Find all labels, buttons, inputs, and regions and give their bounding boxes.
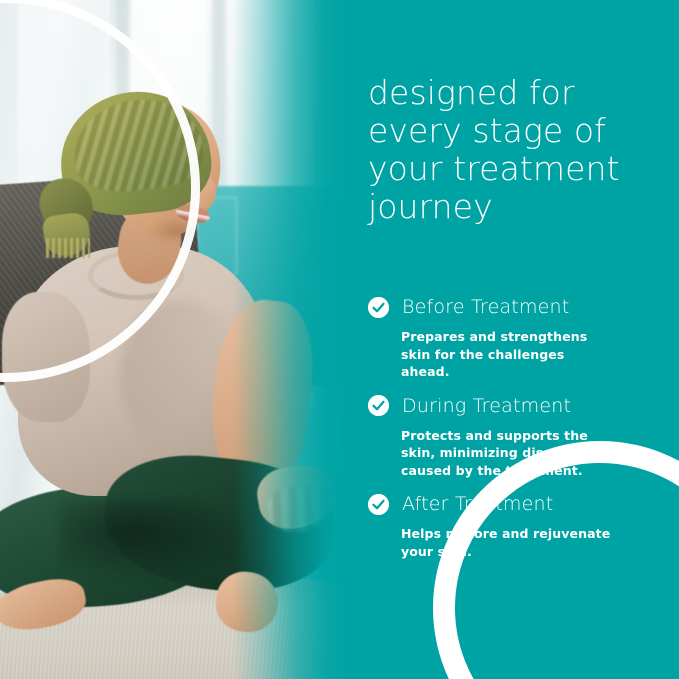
- list-item: After Treatment Helps restore and rejuve…: [368, 493, 668, 560]
- benefit-title: Before Treatment: [402, 296, 569, 318]
- photo-edge-fade: [233, 0, 345, 679]
- leg-shading: [60, 500, 240, 580]
- benefit-heading-row: During Treatment: [368, 395, 668, 417]
- list-item: During Treatment Protects and supports t…: [368, 395, 668, 480]
- check-circle-icon: [368, 494, 389, 515]
- headscarf-fringe: [46, 238, 90, 258]
- benefit-heading-row: After Treatment: [368, 493, 668, 515]
- benefit-title: After Treatment: [402, 493, 553, 515]
- photo-scene: [0, 0, 345, 679]
- sleeve-left: [2, 292, 90, 422]
- chin-shadow: [150, 218, 202, 244]
- check-circle-icon: [368, 395, 389, 416]
- benefit-title: During Treatment: [402, 395, 571, 417]
- page-title: designed for every stage of your treatme…: [368, 74, 660, 226]
- list-item: Before Treatment Prepares and strengthen…: [368, 296, 668, 381]
- content-panel: designed for every stage of your treatme…: [368, 0, 668, 679]
- benefits-list: Before Treatment Prepares and strengthen…: [368, 296, 668, 560]
- check-circle-icon: [368, 297, 389, 318]
- benefit-description: Prepares and strengthens skin for the ch…: [401, 328, 613, 381]
- lifestyle-photo: [0, 0, 345, 679]
- promo-banner: designed for every stage of your treatme…: [0, 0, 679, 679]
- benefit-description: Protects and supports the skin, minimizi…: [401, 427, 613, 480]
- benefit-heading-row: Before Treatment: [368, 296, 668, 318]
- benefit-description: Helps restore and rejuvenate your skin.: [401, 525, 613, 560]
